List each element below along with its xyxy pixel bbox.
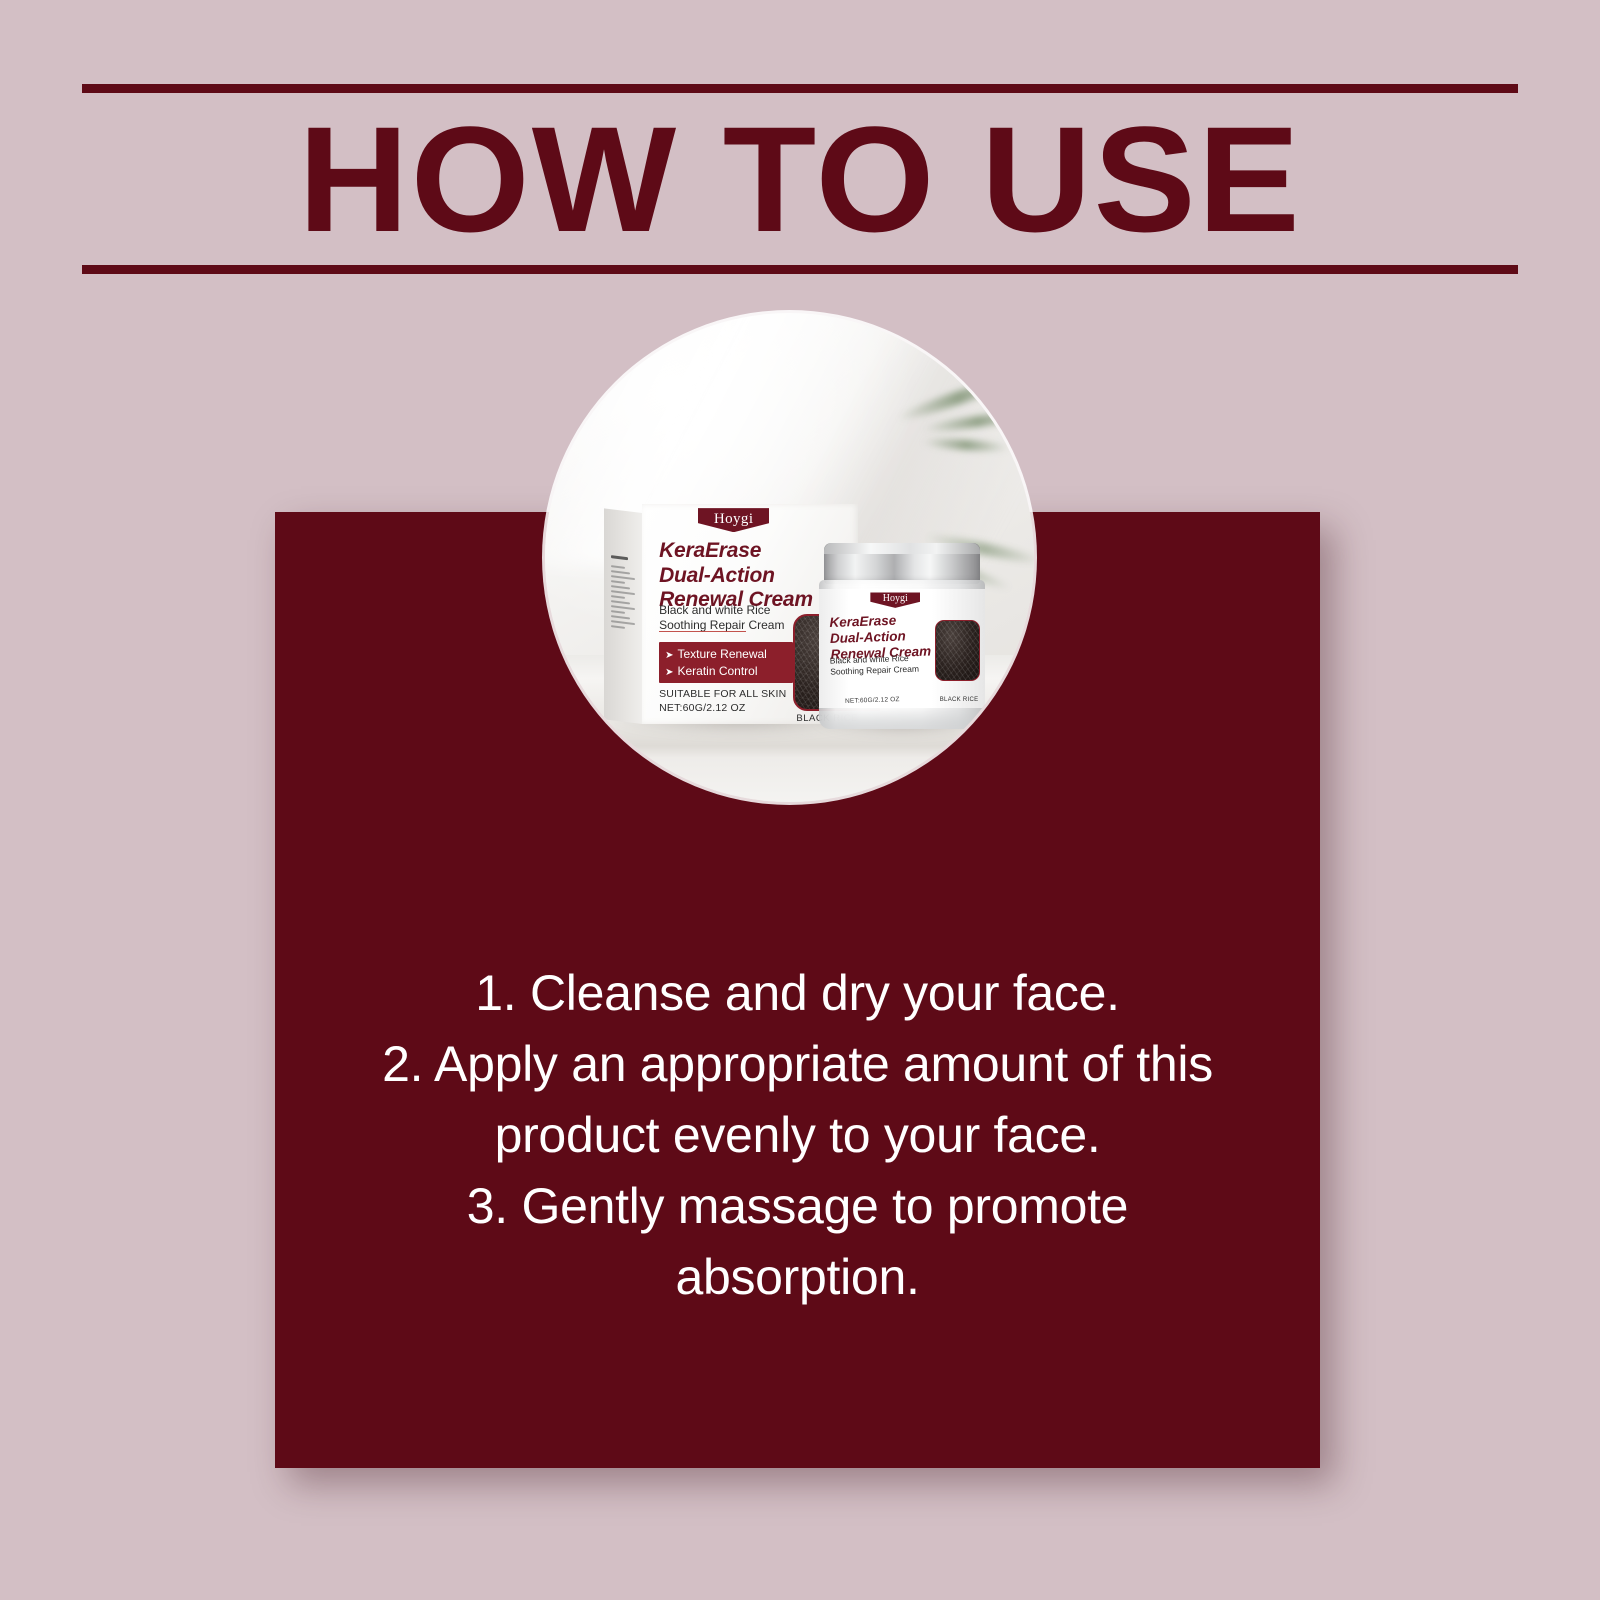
jar-label: Hoygi KeraErase Dual-Action Renewal Crea… [819, 589, 985, 708]
product-jar: Hoygi KeraErase Dual-Action Renewal Crea… [819, 543, 985, 729]
carton-brand-banner: Hoygi [698, 508, 769, 532]
jar-lid-top [824, 543, 980, 554]
instruction-step-2-line-2: product evenly to your face. [335, 1100, 1260, 1171]
title-rule-bottom [82, 265, 1518, 274]
carton-side-panel [604, 508, 642, 724]
page-header: HOW TO USE [82, 84, 1518, 274]
jar-rice-window [935, 620, 980, 681]
arrow-icon: ➤ [665, 667, 673, 678]
jar-brand-label: Hoygi [883, 593, 908, 604]
title-rule-top [82, 84, 1518, 93]
instruction-step-3-line-2: absorption. [335, 1242, 1260, 1313]
jar-body: Hoygi KeraErase Dual-Action Renewal Crea… [819, 580, 985, 729]
carton-feature-list: ➤Texture Renewal ➤Keratin Control [659, 642, 793, 683]
carton-divider [659, 631, 745, 632]
instruction-step-3-line-1: 3. Gently massage to promote [335, 1171, 1260, 1242]
jar-subtitle: Black and white Rice Soothing Repair Cre… [830, 653, 927, 678]
carton-feature-item: ➤Texture Renewal [665, 646, 787, 663]
photo-background: Hoygi KeraErase Dual-Action Renewal Crea… [545, 313, 1034, 802]
arrow-icon: ➤ [665, 650, 673, 661]
carton-subtitle-line-1: Black and white Rice [659, 603, 810, 618]
carton-feature-item: ➤Keratin Control [665, 663, 787, 680]
jar-net-weight: NET:60G/2.12 OZ [845, 696, 900, 705]
jar-brand-banner: Hoygi [870, 592, 920, 607]
carton-subtitle: Black and white Rice Soothing Repair Cre… [659, 603, 810, 634]
page-title: HOW TO USE [68, 98, 1533, 260]
carton-directions-text [611, 555, 635, 689]
carton-brand-label: Hoygi [714, 511, 754, 528]
carton-feature-label: Keratin Control [677, 664, 757, 678]
jar-glass-base [819, 708, 985, 729]
jar-subtitle-line-2: Soothing Repair Cream [830, 663, 927, 677]
instruction-step-1: 1. Cleanse and dry your face. [335, 958, 1260, 1029]
instructions-list: 1. Cleanse and dry your face. 2. Apply a… [335, 958, 1260, 1313]
jar-rice-caption: BLACK RICE [940, 697, 979, 703]
product-photo-circle: Hoygi KeraErase Dual-Action Renewal Crea… [545, 313, 1034, 802]
carton-feature-label: Texture Renewal [677, 647, 766, 661]
instruction-step-2-line-1: 2. Apply an appropriate amount of this [335, 1029, 1260, 1100]
